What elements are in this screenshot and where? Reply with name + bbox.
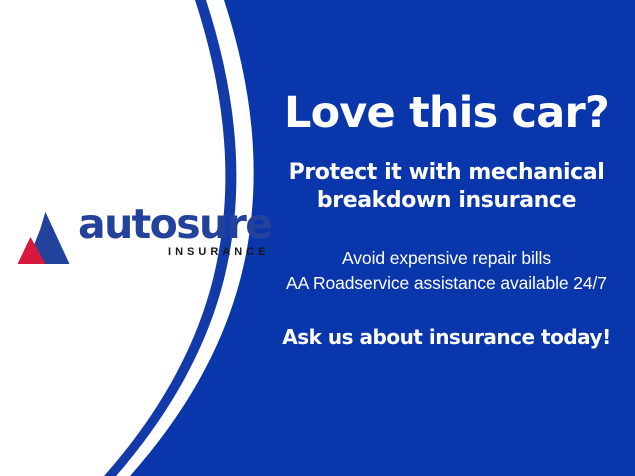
brand-lockup: autosure INSURANCE <box>14 204 271 268</box>
benefits-list: Avoid expensive repair bills AA Roadserv… <box>258 246 635 295</box>
autosure-wordmark: autosure <box>78 204 271 244</box>
autosure-chevron-mark-icon <box>14 208 74 268</box>
subhead: Protect it with mechanical breakdown ins… <box>258 159 635 214</box>
brand-words: autosure INSURANCE <box>78 204 271 258</box>
headline: Love this car? <box>258 92 635 135</box>
call-to-action-text: Ask us about insurance today! <box>258 326 635 348</box>
subhead-line-1: Protect it with mechanical <box>289 160 605 185</box>
autosure-insurance-banner: autosure INSURANCE Love this car? Protec… <box>0 0 635 476</box>
insurance-subwordmark: INSURANCE <box>168 246 269 258</box>
brand-panel: autosure INSURANCE <box>0 0 245 476</box>
benefit-item: Avoid expensive repair bills <box>258 246 635 271</box>
subhead-line-2: breakdown insurance <box>317 188 576 213</box>
message-panel: Love this car? Protect it with mechanica… <box>258 0 635 476</box>
benefit-item: AA Roadservice assistance available 24/7 <box>258 271 635 296</box>
